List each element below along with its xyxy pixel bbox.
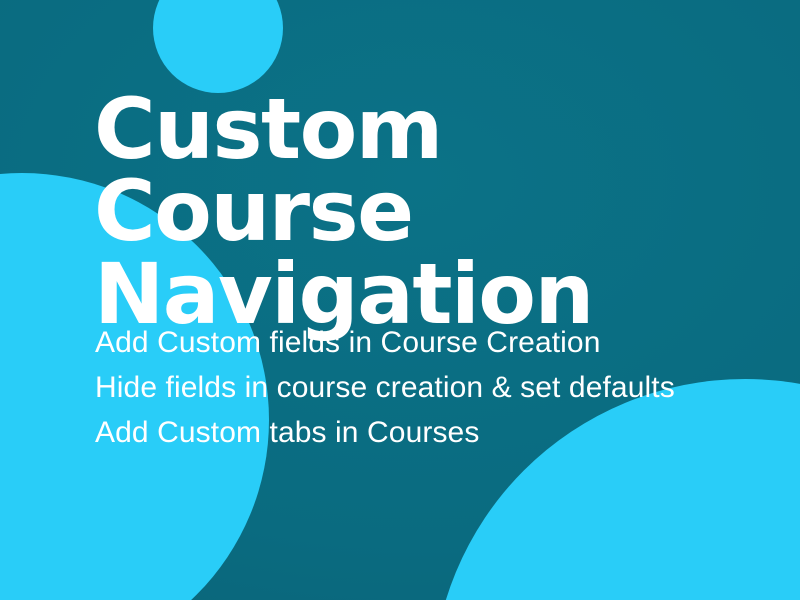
presentation-slide: Custom Course Navigation Add Custom fiel… <box>0 0 800 600</box>
list-item: Add Custom fields in Course Creation <box>95 320 785 365</box>
list-item: Add Custom tabs in Courses <box>95 410 785 455</box>
page-title: Custom Course Navigation <box>94 88 774 335</box>
slide-content: Custom Course Navigation Add Custom fiel… <box>0 0 800 600</box>
bullet-list: Add Custom fields in Course Creation Hid… <box>95 320 785 455</box>
list-item: Hide fields in course creation & set def… <box>95 365 785 410</box>
